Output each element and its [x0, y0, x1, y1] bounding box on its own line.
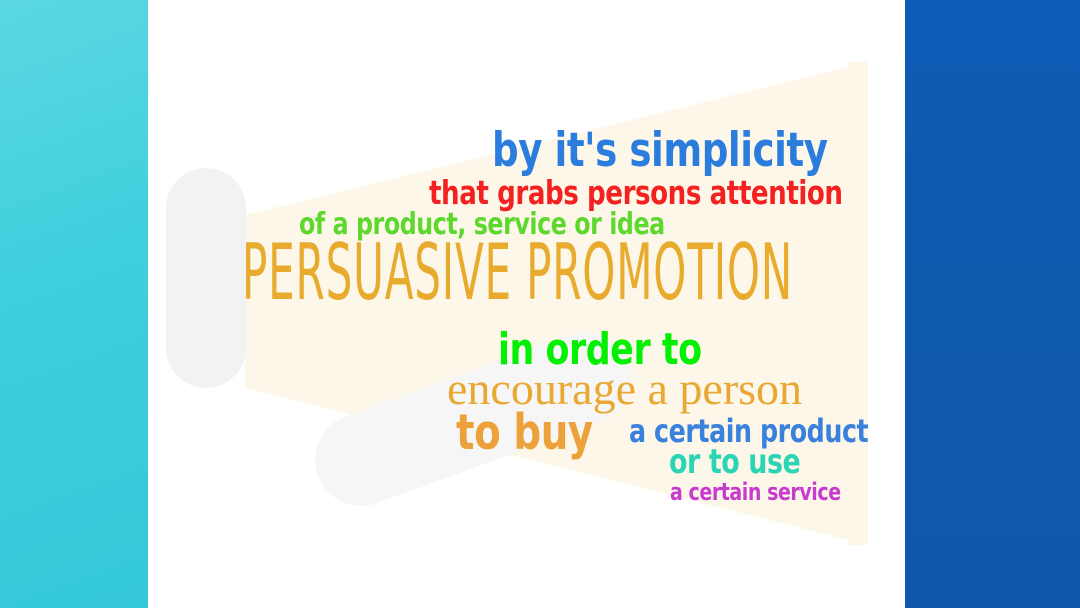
phrase-to-buy: to buy: [456, 408, 593, 457]
headline-persuasive-promotion: PERSUASIVE PROMOTION: [242, 234, 793, 312]
slide-canvas: by it's simplicity that grabs persons at…: [0, 0, 1080, 608]
phrase-that-grabs-persons-attention: that grabs persons attention: [429, 176, 843, 209]
word-cloud: by it's simplicity that grabs persons at…: [0, 0, 1080, 608]
phrase-by-its-simplicity: by it's simplicity: [492, 127, 828, 174]
phrase-a-certain-service: a certain service: [670, 480, 841, 504]
phrase-or-to-use: or to use: [669, 445, 800, 479]
